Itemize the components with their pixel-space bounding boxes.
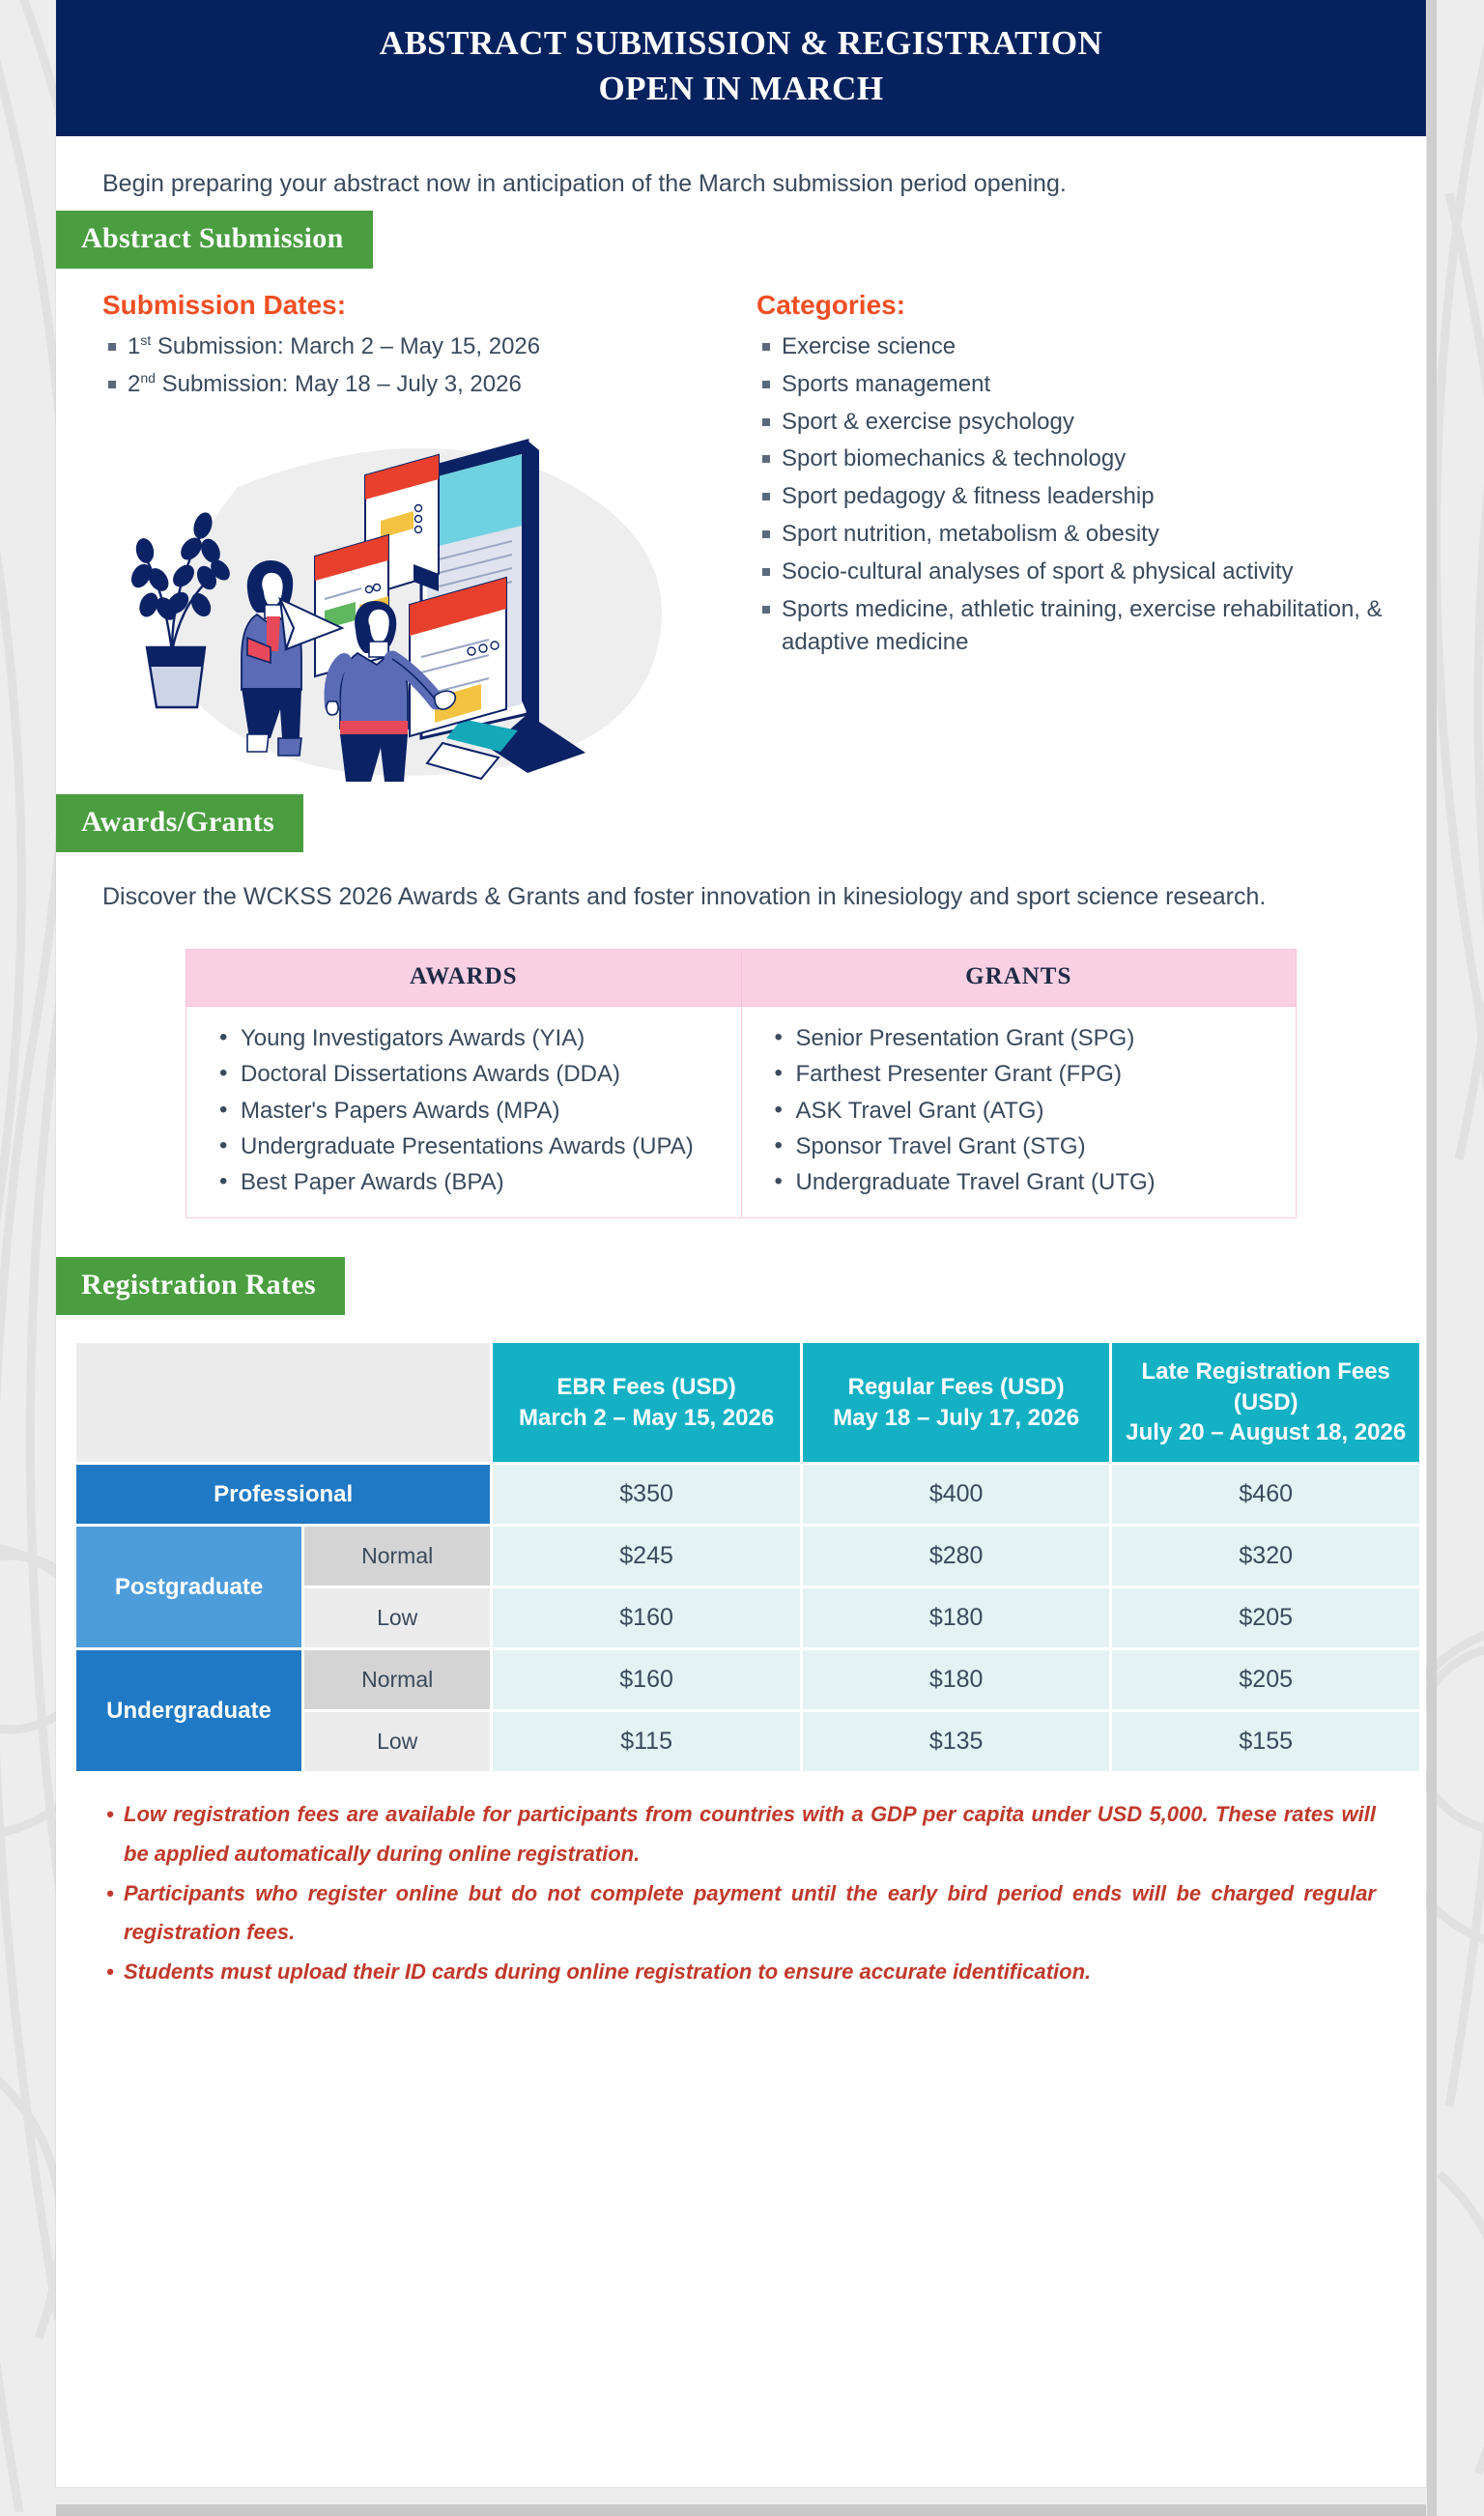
tier-low: Low: [304, 1712, 490, 1771]
price-cell: $280: [803, 1527, 1110, 1586]
column-period: July 20 – August 18, 2026: [1120, 1417, 1412, 1448]
price-cell: $180: [803, 1650, 1110, 1709]
price-cell: $180: [803, 1588, 1110, 1647]
page-header-banner: ABSTRACT SUBMISSION & REGISTRATION OPEN …: [56, 0, 1426, 136]
column-header-late-fees: Late Registration Fees (USD) July 20 – A…: [1112, 1343, 1419, 1462]
grants-cell: Senior Presentation Grant (SPG) Farthest…: [741, 1007, 1297, 1218]
table-header-row: EBR Fees (USD) March 2 – May 15, 2026 Re…: [76, 1343, 1419, 1462]
abstract-submission-illustration: [102, 419, 739, 786]
tier-low: Low: [304, 1588, 490, 1647]
page-title-line2: OPEN IN MARCH: [85, 67, 1397, 112]
list-item: Sport biomechanics & technology: [756, 443, 1393, 476]
price-cell: $155: [1112, 1712, 1419, 1771]
price-cell: $160: [493, 1588, 800, 1647]
price-cell: $320: [1112, 1527, 1419, 1586]
price-cell: $400: [803, 1465, 1110, 1524]
list-item: Sports management: [756, 368, 1393, 402]
price-cell: $460: [1112, 1465, 1419, 1524]
list-item: Young Investigators Awards (YIA): [219, 1020, 731, 1056]
price-cell: $205: [1112, 1588, 1419, 1647]
abstract-submission-chip-wrap: Abstract Submission: [56, 211, 1426, 269]
awards-cell: Young Investigators Awards (YIA) Doctora…: [186, 1007, 742, 1218]
price-cell: $205: [1112, 1650, 1419, 1709]
abstract-submission-columns: Submission Dates: 1st Submission: March …: [56, 269, 1426, 786]
section-heading-registration-rates: Registration Rates: [56, 1257, 345, 1315]
section-heading-awards-grants: Awards/Grants: [56, 794, 303, 852]
submission-dates-list: 1st Submission: March 2 – May 15, 2026 2…: [102, 330, 739, 402]
list-item: Doctoral Dissertations Awards (DDA): [219, 1056, 731, 1092]
column-period: March 2 – May 15, 2026: [500, 1403, 792, 1434]
list-item: Socio-cultural analyses of sport & physi…: [756, 556, 1393, 589]
note-item: Low registration fees are available for …: [106, 1795, 1376, 1873]
price-cell: $115: [493, 1712, 800, 1771]
price-cell: $160: [493, 1650, 800, 1709]
list-item: Sports medicine, athletic training, exer…: [756, 593, 1393, 661]
awards-list: Young Investigators Awards (YIA) Doctora…: [219, 1020, 731, 1200]
registration-notes: Low registration fees are available for …: [56, 1774, 1426, 1991]
price-cell: $245: [493, 1527, 800, 1586]
tier-normal: Normal: [304, 1527, 490, 1586]
table-corner-cell: [76, 1343, 490, 1462]
registration-rates-chip-wrap: Registration Rates: [56, 1257, 1426, 1315]
grants-list: Senior Presentation Grant (SPG) Farthest…: [775, 1020, 1287, 1200]
column-title: Late Registration Fees (USD): [1120, 1357, 1412, 1417]
table-row: Postgraduate Normal $245 $280 $320: [76, 1527, 1419, 1586]
section-heading-abstract-submission: Abstract Submission: [56, 211, 373, 269]
category-undergraduate: Undergraduate: [76, 1650, 301, 1771]
table-header-row: AWARDS GRANTS: [186, 950, 1297, 1007]
vertical-scrollbar[interactable]: [1427, 0, 1437, 2516]
tier-normal: Normal: [304, 1650, 490, 1709]
list-item: Farthest Presenter Grant (FPG): [775, 1056, 1287, 1092]
list-item: Senior Presentation Grant (SPG): [775, 1020, 1287, 1056]
registration-rates-table-wrap: EBR Fees (USD) March 2 – May 15, 2026 Re…: [56, 1340, 1426, 1774]
slide-page: ABSTRACT SUBMISSION & REGISTRATION OPEN …: [56, 0, 1426, 2487]
list-item: 2nd Submission: May 18 – July 3, 2026: [102, 368, 739, 402]
column-header-regular-fees: Regular Fees (USD) May 18 – July 17, 202…: [803, 1343, 1110, 1462]
table-row: Young Investigators Awards (YIA) Doctora…: [186, 1007, 1297, 1218]
list-item: Sport pedagogy & fitness leadership: [756, 480, 1393, 514]
list-item: Sport & exercise psychology: [756, 406, 1393, 440]
submission-dates-column: Submission Dates: 1st Submission: March …: [102, 290, 739, 786]
list-item: Best Paper Awards (BPA): [219, 1164, 731, 1200]
column-period: May 18 – July 17, 2026: [811, 1403, 1102, 1434]
category-professional: Professional: [76, 1465, 490, 1524]
horizontal-scrollbar[interactable]: [56, 2504, 1426, 2516]
list-item: Undergraduate Presentations Awards (UPA): [219, 1129, 731, 1164]
list-item: ASK Travel Grant (ATG): [775, 1093, 1287, 1129]
awards-grants-chip-wrap: Awards/Grants: [56, 794, 1426, 852]
price-cell: $350: [493, 1465, 800, 1524]
intro-paragraph: Begin preparing your abstract now in ant…: [56, 136, 1426, 211]
list-item: 1st Submission: March 2 – May 15, 2026: [102, 330, 739, 364]
list-item: Undergraduate Travel Grant (UTG): [775, 1164, 1287, 1200]
list-item: Master's Papers Awards (MPA): [219, 1093, 731, 1129]
categories-list: Exercise science Sports management Sport…: [756, 330, 1393, 660]
price-cell: $135: [803, 1712, 1110, 1771]
column-header-ebr-fees: EBR Fees (USD) March 2 – May 15, 2026: [493, 1343, 800, 1462]
categories-title: Categories:: [756, 290, 1393, 321]
categories-column: Categories: Exercise science Sports mana…: [739, 290, 1393, 786]
awards-grants-table: AWARDS GRANTS Young Investigators Awards…: [185, 949, 1297, 1218]
list-item: Sponsor Travel Grant (STG): [775, 1129, 1287, 1164]
column-header-grants: GRANTS: [741, 950, 1297, 1007]
registration-rates-table: EBR Fees (USD) March 2 – May 15, 2026 Re…: [73, 1340, 1422, 1774]
note-item: Students must upload their ID cards duri…: [106, 1953, 1376, 1992]
list-item: Exercise science: [756, 330, 1393, 364]
page-title-line1: ABSTRACT SUBMISSION & REGISTRATION: [85, 21, 1397, 67]
column-title: Regular Fees (USD): [811, 1372, 1102, 1403]
list-item: Sport nutrition, metabolism & obesity: [756, 518, 1393, 552]
table-row: Undergraduate Normal $160 $180 $205: [76, 1650, 1419, 1709]
category-postgraduate: Postgraduate: [76, 1527, 301, 1647]
table-row: Professional $350 $400 $460: [76, 1465, 1419, 1524]
submission-dates-title: Submission Dates:: [102, 290, 739, 321]
column-header-awards: AWARDS: [186, 950, 742, 1007]
awards-grants-description: Discover the WCKSS 2026 Awards & Grants …: [56, 852, 1426, 917]
note-item: Participants who register online but do …: [106, 1874, 1376, 1953]
column-title: EBR Fees (USD): [500, 1372, 792, 1403]
